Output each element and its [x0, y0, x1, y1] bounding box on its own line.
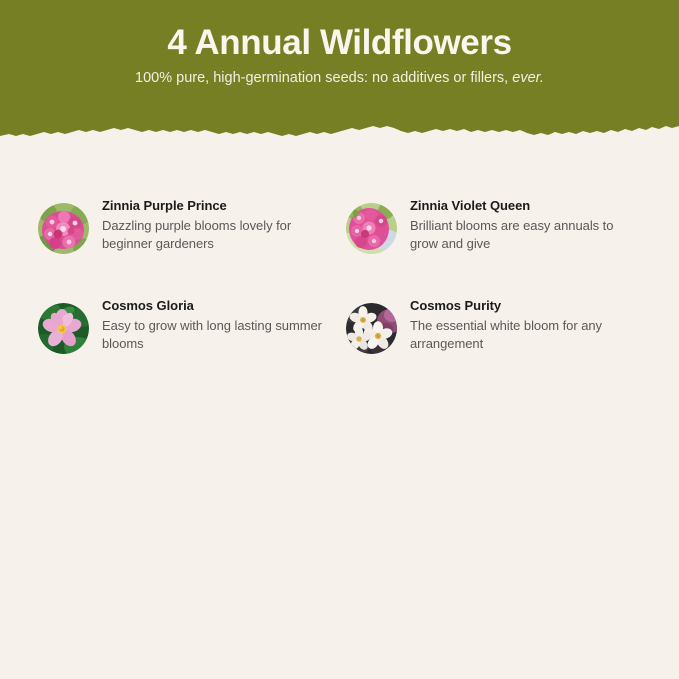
product-text: Cosmos Purity The essential white bloom …: [397, 296, 642, 354]
page-subtitle: 100% pure, high-germination seeds: no ad…: [135, 70, 544, 87]
product-item: Zinnia Violet Queen Brilliant blooms are…: [340, 196, 648, 254]
cosmos-gloria-thumbnail-icon: [38, 303, 89, 354]
product-description: Easy to grow with long lasting summer bl…: [102, 317, 334, 354]
hero-banner: 4 Annual Wildflowers 100% pure, high-ger…: [0, 0, 679, 140]
zinnia-violet-queen-thumbnail-icon: [346, 203, 397, 254]
product-item: Cosmos Purity The essential white bloom …: [340, 296, 648, 354]
product-text: Zinnia Purple Prince Dazzling purple blo…: [89, 196, 334, 254]
page-title: 4 Annual Wildflowers: [167, 24, 511, 63]
product-text: Cosmos Gloria Easy to grow with long las…: [89, 296, 334, 354]
product-name: Cosmos Purity: [410, 297, 642, 315]
product-name: Cosmos Gloria: [102, 297, 334, 315]
subtitle-emphasis-text: ever.: [512, 70, 544, 86]
zinnia-purple-prince-thumbnail-icon: [38, 203, 89, 254]
subtitle-lead-text: 100% pure, high-germination seeds: no ad…: [135, 70, 512, 86]
cosmos-purity-thumbnail-icon: [346, 303, 397, 354]
product-grid: Zinnia Purple Prince Dazzling purple blo…: [32, 196, 647, 354]
product-name: Zinnia Violet Queen: [410, 197, 642, 215]
product-info-page: 4 Annual Wildflowers 100% pure, high-ger…: [0, 0, 679, 679]
product-description: Brilliant blooms are easy annuals to gro…: [410, 217, 642, 254]
product-name: Zinnia Purple Prince: [102, 197, 334, 215]
product-text: Zinnia Violet Queen Brilliant blooms are…: [397, 196, 642, 254]
hero-text-block: 4 Annual Wildflowers 100% pure, high-ger…: [0, 0, 679, 128]
product-description: The essential white bloom for any arrang…: [410, 317, 642, 354]
product-item: Zinnia Purple Prince Dazzling purple blo…: [32, 196, 340, 254]
product-item: Cosmos Gloria Easy to grow with long las…: [32, 296, 340, 354]
product-description: Dazzling purple blooms lovely for beginn…: [102, 217, 334, 254]
